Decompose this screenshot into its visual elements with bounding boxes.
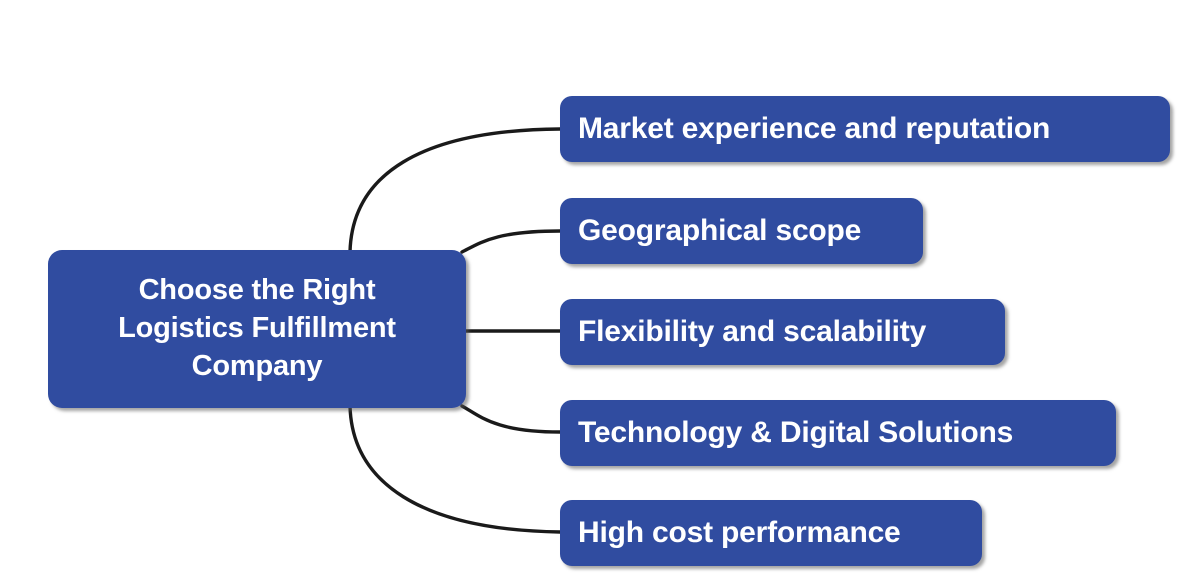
branch-node-4-label: Technology & Digital Solutions bbox=[560, 418, 1013, 448]
branch-node-3[interactable]: Flexibility and scalability bbox=[560, 299, 1005, 365]
connector-to-branch-1 bbox=[350, 129, 560, 252]
branch-node-2[interactable]: Geographical scope bbox=[560, 198, 923, 264]
branch-node-5-label: High cost performance bbox=[560, 518, 901, 548]
connector-to-branch-4 bbox=[462, 406, 560, 432]
root-node-label: Choose the Right Logistics Fulfillment C… bbox=[118, 272, 396, 385]
connector-to-branch-5 bbox=[350, 406, 560, 532]
root-node[interactable]: Choose the Right Logistics Fulfillment C… bbox=[48, 250, 466, 408]
branch-node-3-label: Flexibility and scalability bbox=[560, 317, 926, 347]
branch-node-5[interactable]: High cost performance bbox=[560, 500, 982, 566]
branch-node-1[interactable]: Market experience and reputation bbox=[560, 96, 1170, 162]
branch-node-2-label: Geographical scope bbox=[560, 216, 861, 246]
branch-node-1-label: Market experience and reputation bbox=[560, 114, 1050, 144]
branch-node-4[interactable]: Technology & Digital Solutions bbox=[560, 400, 1116, 466]
mindmap-canvas: Choose the Right Logistics Fulfillment C… bbox=[0, 0, 1200, 574]
connector-to-branch-2 bbox=[462, 231, 560, 252]
